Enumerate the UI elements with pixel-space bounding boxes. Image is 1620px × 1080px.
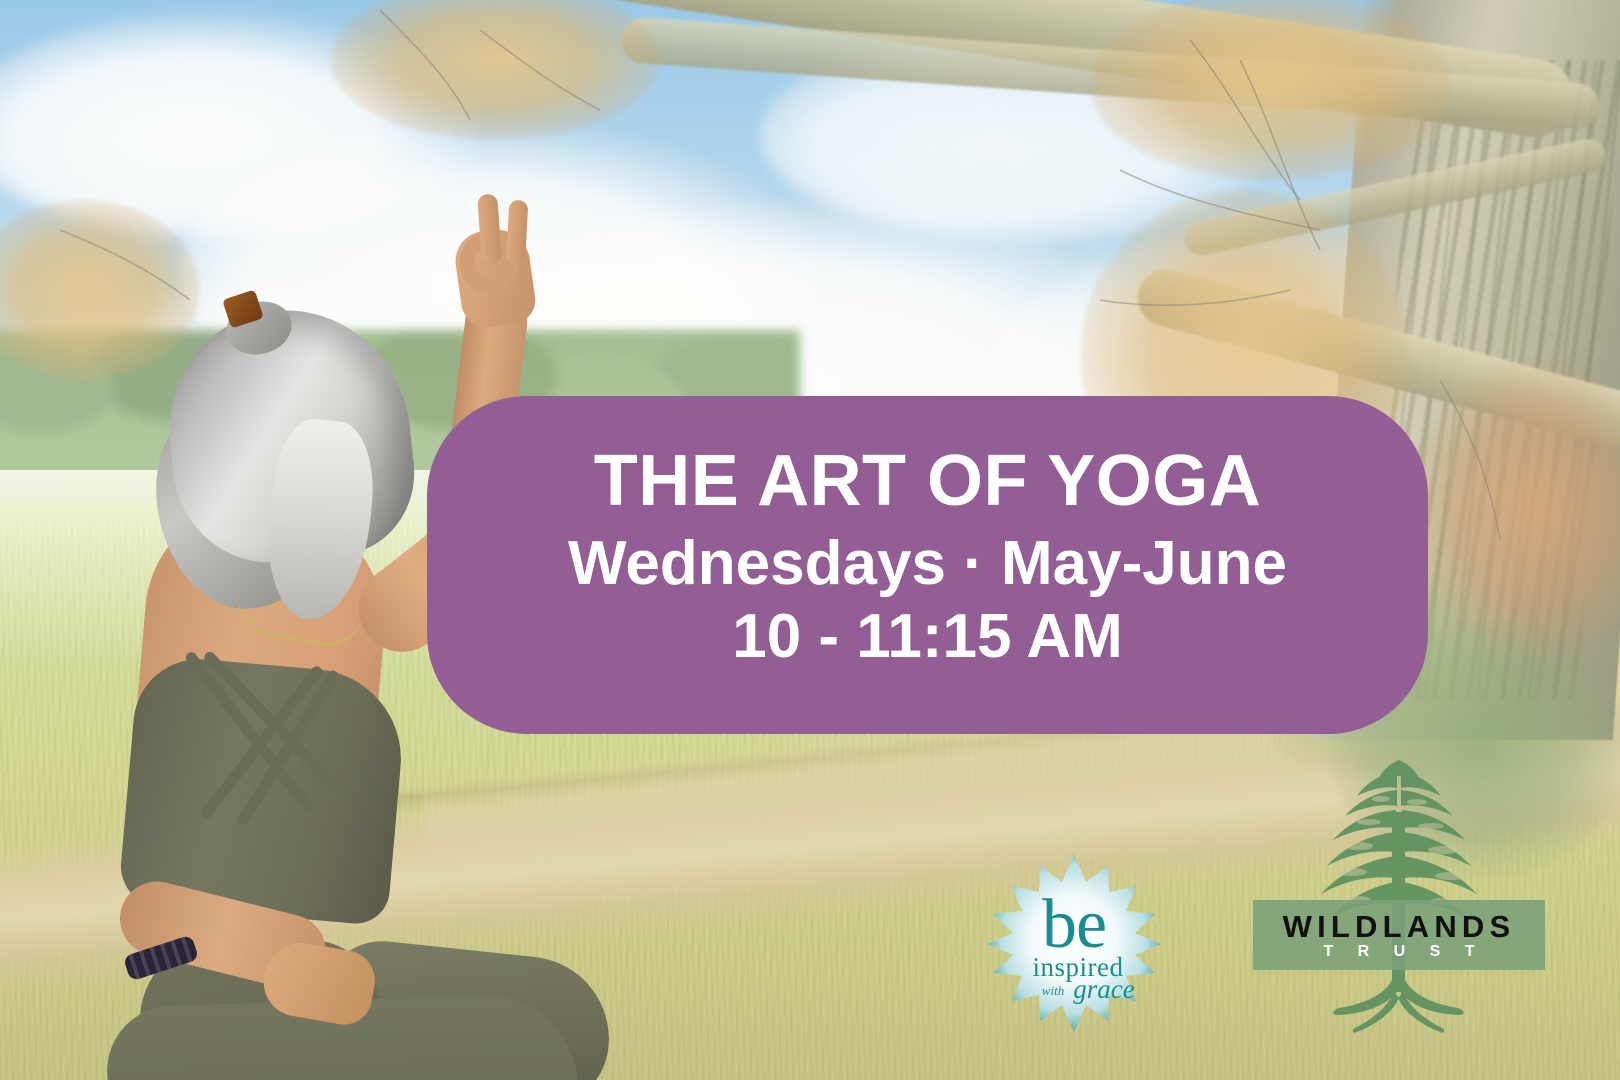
trust-wordmark: T R U S T — [1323, 944, 1484, 960]
svg-text:grace: grace — [1073, 974, 1134, 1004]
event-callout-card: THE ART OF YOGA Wednesdays · May-June 10… — [427, 396, 1428, 734]
event-schedule-days: Wednesdays · May-June — [568, 527, 1287, 600]
wildlands-trust-logo: WILDLANDS T R U S T — [1293, 742, 1505, 1047]
svg-text:with: with — [1042, 983, 1064, 998]
yoga-event-poster: THE ART OF YOGA Wednesdays · May-June 10… — [0, 0, 1620, 1080]
page-title: THE ART OF YOGA — [594, 445, 1262, 517]
wildlands-trust-nameplate: WILDLANDS T R U S T — [1253, 900, 1545, 970]
event-schedule-time: 10 - 11:15 AM — [732, 600, 1123, 673]
be-inspired-with-grace-logo: be inspired with grace — [985, 852, 1163, 1034]
pine-tree-icon — [1293, 742, 1505, 1047]
finger — [506, 200, 528, 265]
wildlands-wordmark: WILDLANDS — [1283, 911, 1516, 942]
